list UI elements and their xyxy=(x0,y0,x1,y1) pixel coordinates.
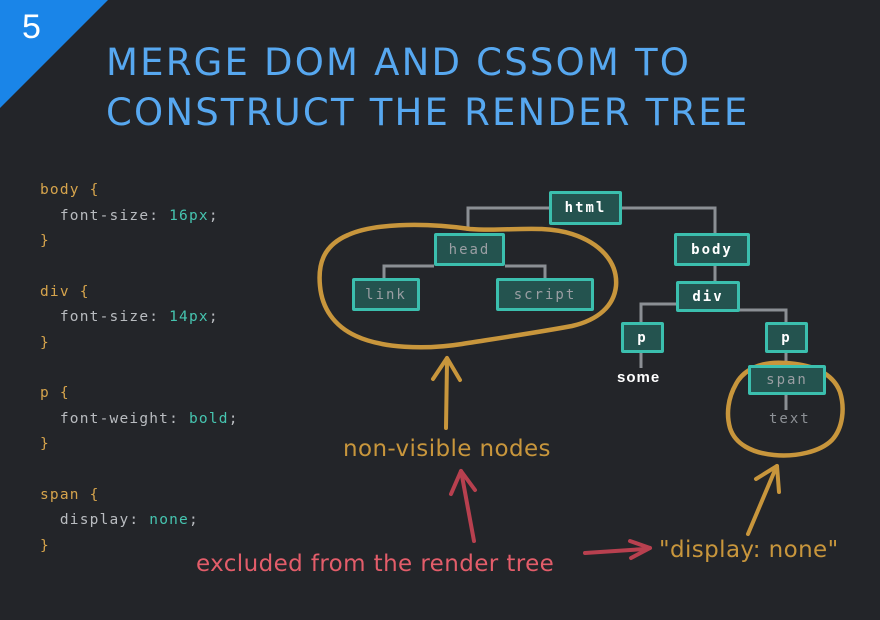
annotation-non-visible-nodes: non-visible nodes xyxy=(343,436,551,462)
tree-graphics-layer xyxy=(0,0,880,620)
slide-corner-triangle xyxy=(0,0,108,108)
slide-root: 5 MERGE DOM AND CSSOM TO CONSTRUCT THE R… xyxy=(0,0,880,620)
arrow-gold-displaynone xyxy=(748,466,779,534)
tree-node-html[interactable]: html xyxy=(549,191,622,225)
tree-text-node-some: some xyxy=(617,369,660,386)
arrow-gold-nonvisible xyxy=(433,358,460,428)
tree-node-div[interactable]: div xyxy=(676,281,740,312)
tree-node-span[interactable]: span xyxy=(748,365,826,395)
connector-head-link xyxy=(384,266,434,278)
connector-html-body xyxy=(622,208,715,235)
tree-node-p-right[interactable]: p xyxy=(765,322,808,353)
tree-node-script[interactable]: script xyxy=(496,278,594,311)
arrow-red-to-nonvisible xyxy=(451,471,475,541)
connector-div-pleft xyxy=(641,304,676,323)
tree-node-body[interactable]: body xyxy=(674,233,750,266)
tree-text-node-text: text xyxy=(769,411,811,427)
annotation-excluded-from-render-tree: excluded from the render tree xyxy=(196,551,554,577)
connector-head-script xyxy=(505,266,545,278)
annotation-display-none: "display: none" xyxy=(659,537,839,563)
arrow-red-to-displaynone xyxy=(585,541,650,558)
slide-number: 5 xyxy=(22,8,41,47)
tree-node-head[interactable]: head xyxy=(434,233,505,266)
tree-node-link[interactable]: link xyxy=(352,278,420,311)
tree-node-p-left[interactable]: p xyxy=(621,322,664,353)
